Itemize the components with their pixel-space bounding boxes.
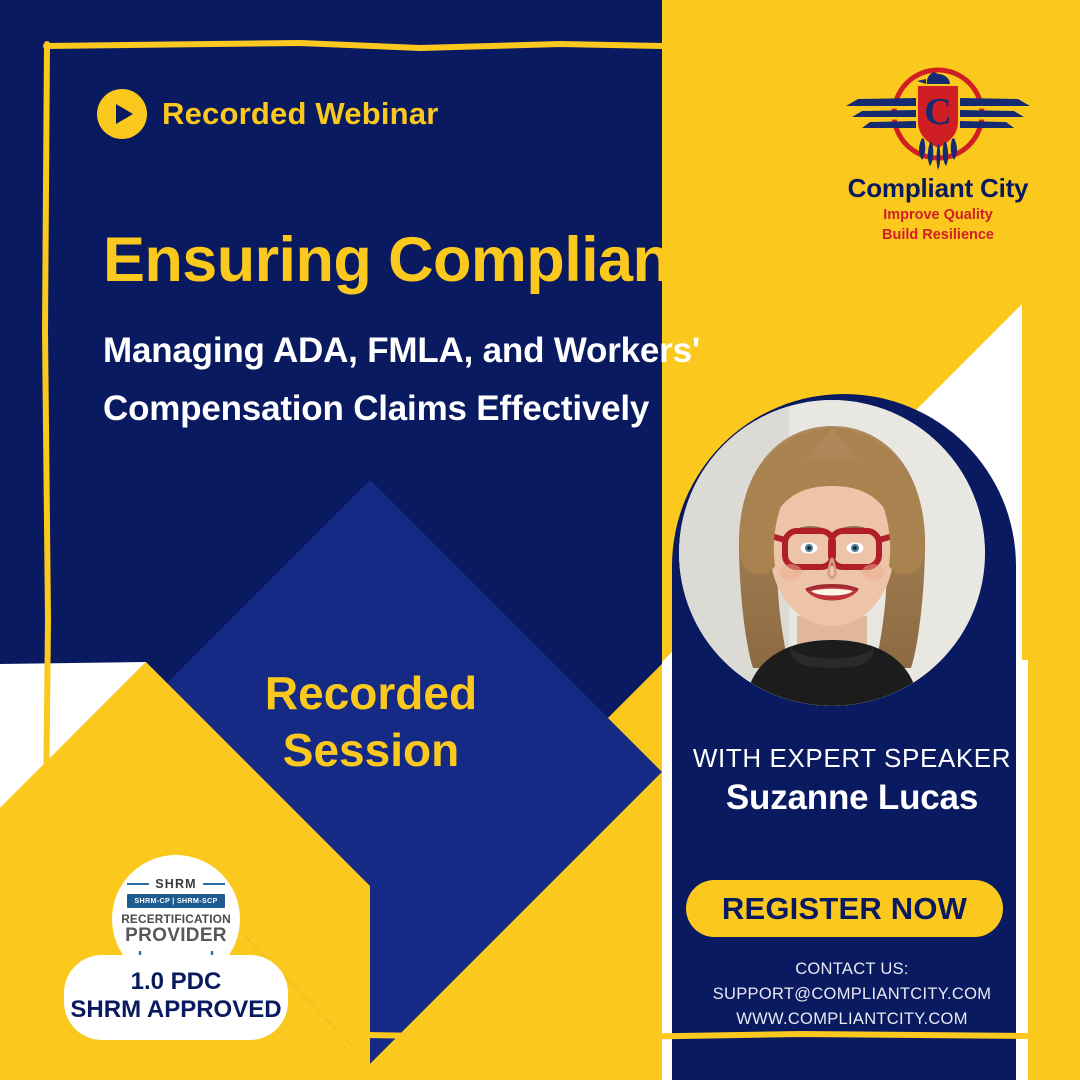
shrm-provider-label: PROVIDER [125,925,227,947]
contact-heading: CONTACT US: [672,957,1032,982]
shrm-approved-text: SHRM APPROVED [64,996,288,1024]
play-icon [97,89,147,139]
contact-info: CONTACT US: SUPPORT@COMPLIANTCITY.COM WW… [672,957,1032,1032]
logo-tagline-line2: Build Resilience [838,226,1038,244]
speaker-kicker: WITH EXPERT SPEAKER [672,743,1032,774]
webinar-promo-poster: Recorded Webinar [0,0,1080,1080]
shrm-rule-right [203,883,225,885]
shrm-rule-left [127,883,149,885]
shrm-recert-label: RECERTIFICATION [121,912,231,926]
shrm-top-label: SHRM [155,877,197,891]
page-subtitle: Managing ADA, FMLA, and Workers' Compens… [103,322,723,439]
shrm-credentials-band: SHRM-CP | SHRM-SCP [127,894,224,908]
page-title: Ensuring Compliance [103,228,783,294]
recorded-session-label: Recorded Session [176,665,566,778]
speaker-name: Suzanne Lucas [672,778,1032,818]
logo-tagline-line1: Improve Quality [838,206,1038,224]
shrm-pdc-value: 1.0 PDC [64,968,288,996]
eagle-shield-logo-icon: C [838,62,1038,177]
brand-logo: C Compliant City Improve Quality Build R… [838,62,1038,245]
contact-website[interactable]: WWW.COMPLIANTCITY.COM [672,1007,1032,1032]
logo-company-name: Compliant City [838,173,1038,204]
speaker-headshot [679,400,985,706]
register-now-button[interactable]: REGISTER NOW [686,880,1003,937]
avatar [679,400,985,706]
recorded-webinar-badge: Recorded Webinar [97,89,439,139]
contact-email[interactable]: SUPPORT@COMPLIANTCITY.COM [672,982,1032,1007]
recorded-session-line1: Recorded [176,665,566,722]
svg-text:C: C [924,91,951,133]
recorded-webinar-label: Recorded Webinar [162,96,439,132]
recorded-session-line2: Session [176,722,566,779]
shrm-approved-pill: 1.0 PDC SHRM APPROVED [64,955,288,1040]
